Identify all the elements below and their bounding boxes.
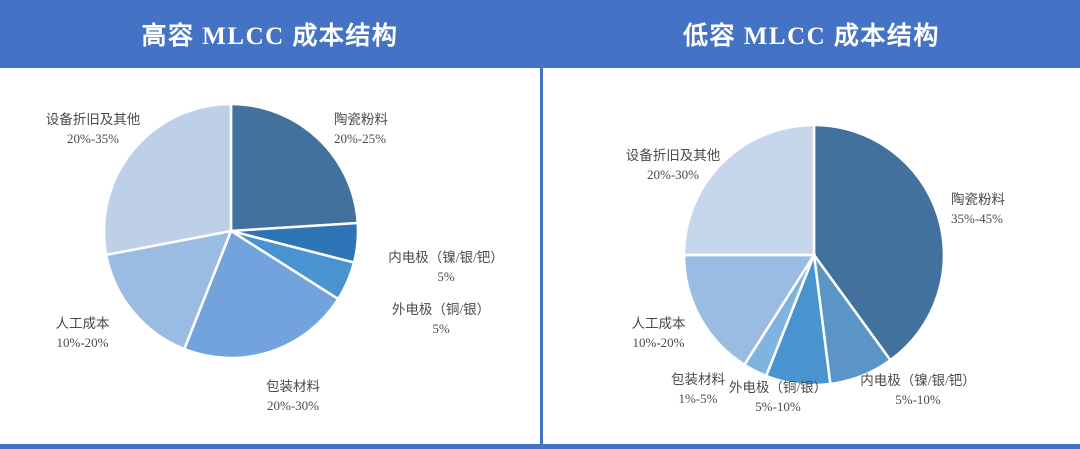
- label-name: 内电极（镍/银/钯）: [366, 248, 526, 268]
- label-name: 外电极（铜/银）: [366, 300, 516, 320]
- label-labor-cost-left: 人工成本 10%-20%: [30, 314, 135, 352]
- label-value: 10%-20%: [30, 334, 135, 353]
- label-value: 5%-10%: [838, 391, 998, 410]
- label-value: 20%-35%: [18, 130, 168, 149]
- label-value: 35%-45%: [951, 210, 1005, 229]
- label-name: 包装材料: [238, 377, 348, 397]
- pie-chart-low-capacitance: 设备折旧及其他 20%-30% 陶瓷粉料 35%-45% 内电极（镍/银/钯） …: [543, 68, 1080, 444]
- label-name: 设备折旧及其他: [598, 146, 748, 166]
- label-value: 20%-30%: [238, 397, 348, 416]
- label-name: 人工成本: [30, 314, 135, 334]
- label-labor-cost-right: 人工成本 10%-20%: [606, 314, 711, 352]
- label-ceramic-powder-right: 陶瓷粉料 35%-45%: [951, 190, 1005, 228]
- label-value: 1%-5%: [653, 390, 743, 409]
- pie-chart-high-capacitance: 设备折旧及其他 20%-35% 陶瓷粉料 20%-25% 内电极（镍/银/钯） …: [0, 68, 540, 444]
- label-packaging-material-right: 包装材料 1%-5%: [653, 370, 743, 408]
- label-name: 内电极（镍/银/钯）: [838, 371, 998, 391]
- label-inner-electrode-right: 内电极（镍/银/钯） 5%-10%: [838, 371, 998, 409]
- mlcc-cost-structure-figure: 高容 MLCC 成本结构: [0, 0, 1080, 449]
- label-inner-electrode-left: 内电极（镍/银/钯） 5%: [366, 248, 526, 286]
- panel-title-high-capacitance: 高容 MLCC 成本结构: [0, 0, 540, 68]
- label-ceramic-powder-left: 陶瓷粉料 20%-25%: [334, 110, 388, 148]
- label-equipment-depreciation-left: 设备折旧及其他 20%-35%: [18, 110, 168, 148]
- label-value: 20%-25%: [334, 130, 388, 149]
- label-equipment-depreciation-right: 设备折旧及其他 20%-30%: [598, 146, 748, 184]
- label-name: 陶瓷粉料: [334, 110, 388, 130]
- panel-title-low-capacitance: 低容 MLCC 成本结构: [543, 0, 1080, 68]
- label-value: 5%: [366, 268, 526, 287]
- label-name: 设备折旧及其他: [18, 110, 168, 130]
- label-packaging-material-left: 包装材料 20%-30%: [238, 377, 348, 415]
- label-name: 人工成本: [606, 314, 711, 334]
- label-value: 20%-30%: [598, 166, 748, 185]
- panel-low-capacitance: 低容 MLCC 成本结构: [540, 0, 1080, 449]
- label-value: 5%: [366, 320, 516, 339]
- label-name: 包装材料: [653, 370, 743, 390]
- label-name: 陶瓷粉料: [951, 190, 1005, 210]
- label-value: 10%-20%: [606, 334, 711, 353]
- panel-high-capacitance: 高容 MLCC 成本结构: [0, 0, 540, 449]
- pie-slice-equipment-depreciation: [684, 125, 814, 255]
- label-outer-electrode-left: 外电极（铜/银） 5%: [366, 300, 516, 338]
